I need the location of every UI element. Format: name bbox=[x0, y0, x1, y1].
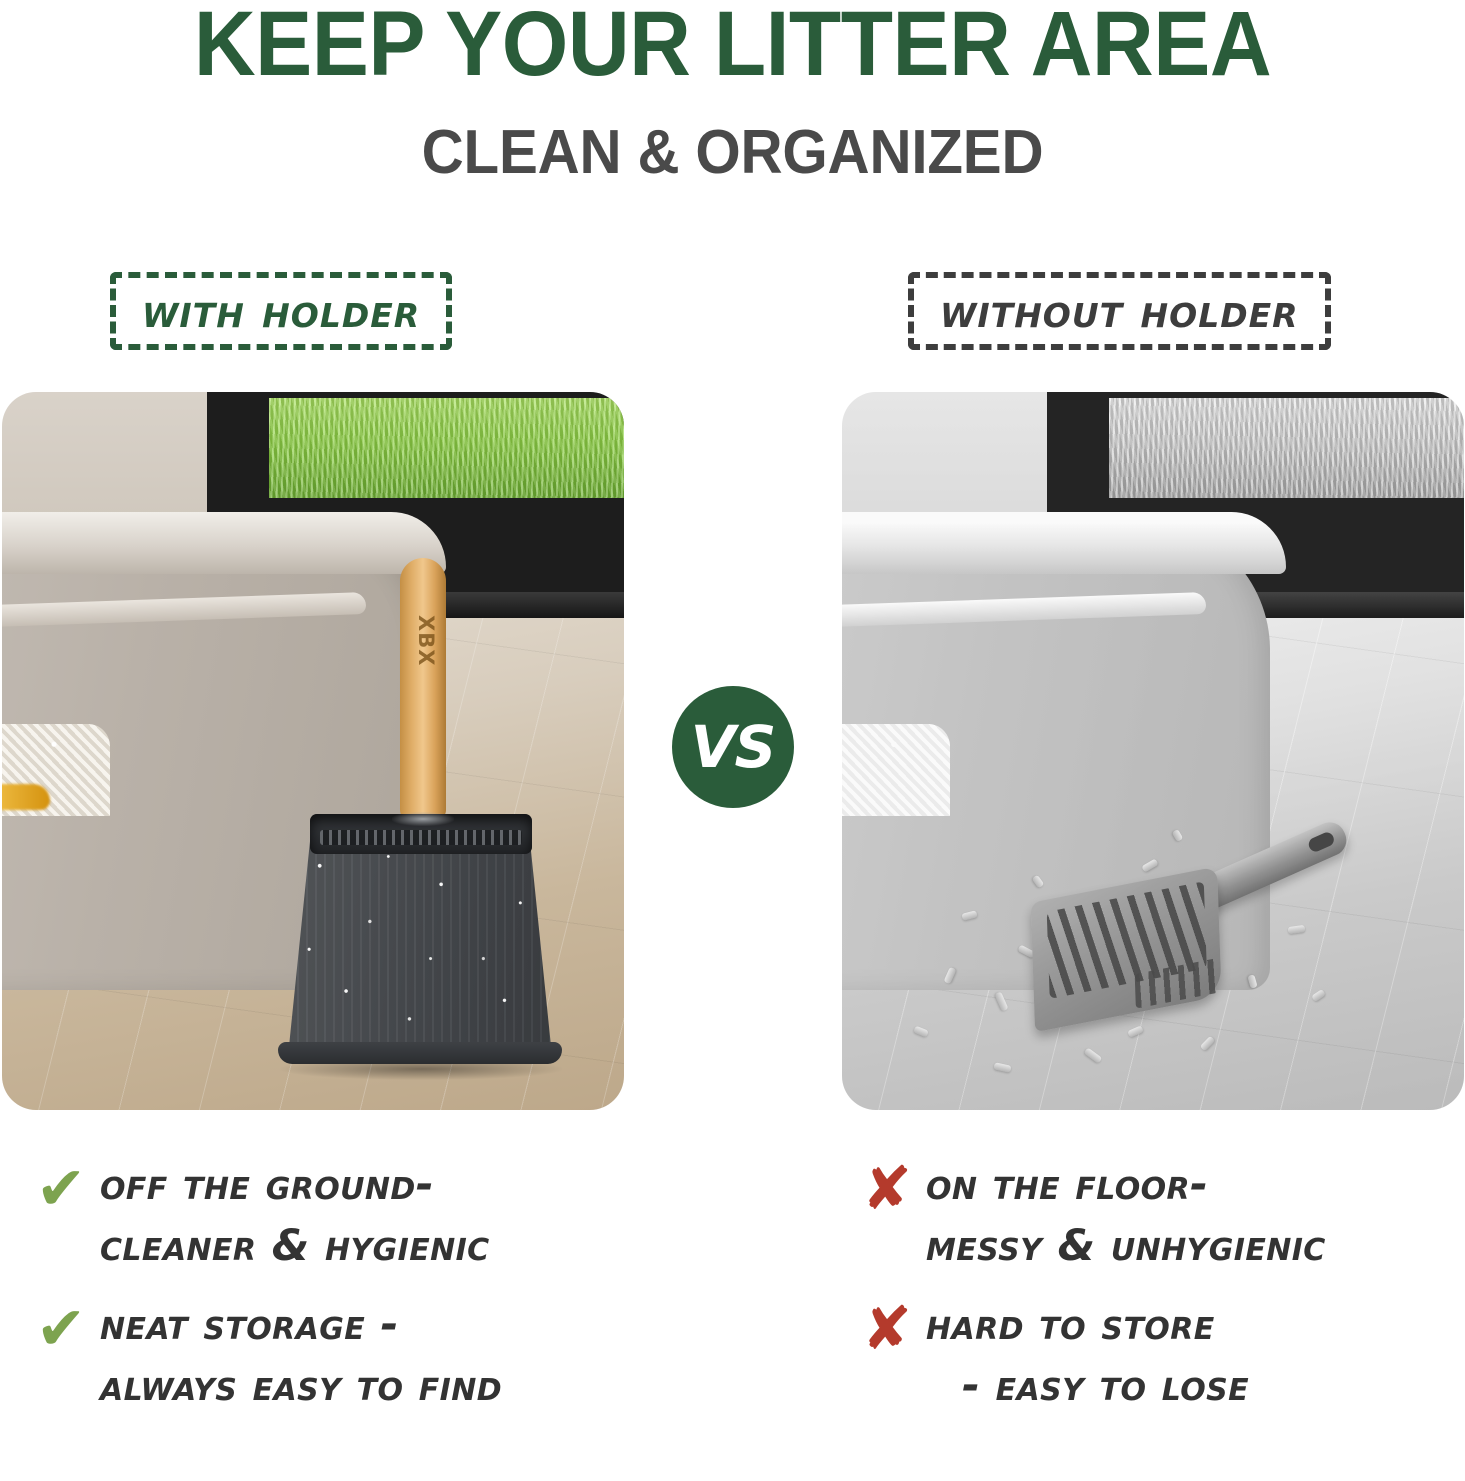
vs-label: VS bbox=[691, 718, 776, 776]
holder-speckle-texture bbox=[288, 824, 552, 1056]
benefit-line-2: cleaner & hygienic bbox=[100, 1216, 682, 1277]
badge-with-holder: With Holder bbox=[110, 272, 452, 350]
scoop-hang-hole bbox=[1307, 830, 1336, 853]
litter-accent bbox=[2, 784, 50, 810]
litter-box-rim bbox=[2, 512, 446, 574]
benefit-line-1: Off the ground- bbox=[100, 1160, 434, 1210]
window-pane-grass bbox=[1109, 398, 1464, 498]
list-item: ✔ Neat storage - always easy to find bbox=[22, 1295, 682, 1417]
benefit-line-1: Neat storage - bbox=[100, 1300, 399, 1350]
litter-granules bbox=[842, 724, 950, 816]
litter-box-rim bbox=[842, 512, 1286, 574]
check-icon: ✔ bbox=[22, 1155, 100, 1219]
handle-brand-mark: XBX bbox=[408, 602, 438, 680]
list-item: ✘ On the floor- messy & unhygienic bbox=[848, 1155, 1465, 1277]
cross-icon: ✘ bbox=[848, 1295, 926, 1359]
grass-texture bbox=[1109, 398, 1464, 498]
drawback-line-2: - easy to lose bbox=[926, 1356, 1465, 1417]
drawback-line-1: Hard to store bbox=[926, 1300, 1215, 1350]
benefit-text: Off the ground- cleaner & hygienic bbox=[100, 1155, 682, 1277]
drawback-line-1: On the floor- bbox=[926, 1160, 1208, 1210]
photo-without-holder bbox=[842, 392, 1464, 1110]
infographic-root: KEEP YOUR LITTER AREA CLEAN & ORGANIZED … bbox=[0, 0, 1465, 1481]
cross-icon: ✘ bbox=[848, 1155, 926, 1219]
badge-with-holder-label: With Holder bbox=[142, 288, 420, 335]
window-pane-grass bbox=[269, 398, 624, 498]
holder-body bbox=[288, 824, 552, 1056]
photo-with-holder: XBX bbox=[2, 392, 624, 1110]
drawback-line-2: messy & unhygienic bbox=[926, 1216, 1465, 1277]
badge-without-holder-label: Without Holder bbox=[940, 288, 1299, 335]
list-item: ✔ Off the ground- cleaner & hygienic bbox=[22, 1155, 682, 1277]
scoop-head-in-holder bbox=[392, 812, 454, 826]
benefits-with-holder: ✔ Off the ground- cleaner & hygienic ✔ N… bbox=[22, 1155, 682, 1435]
holder-grate bbox=[320, 830, 522, 845]
benefit-line-2: always easy to find bbox=[100, 1356, 682, 1417]
page-title: KEEP YOUR LITTER AREA bbox=[51, 0, 1413, 93]
drawback-text: Hard to store - easy to lose bbox=[926, 1295, 1465, 1417]
benefit-text: Neat storage - always easy to find bbox=[100, 1295, 682, 1417]
drawbacks-without-holder: ✘ On the floor- messy & unhygienic ✘ Har… bbox=[848, 1155, 1465, 1435]
list-item: ✘ Hard to store - easy to lose bbox=[848, 1295, 1465, 1417]
scoop-wooden-handle: XBX bbox=[400, 558, 446, 820]
page-subtitle: CLEAN & ORGANIZED bbox=[44, 120, 1421, 185]
vs-badge: VS bbox=[672, 686, 794, 808]
drawback-text: On the floor- messy & unhygienic bbox=[926, 1155, 1465, 1277]
grass-texture bbox=[269, 398, 624, 498]
holder-foot bbox=[278, 1042, 562, 1064]
scoop-holder bbox=[270, 806, 570, 1074]
badge-without-holder: Without Holder bbox=[908, 272, 1331, 350]
scoop-head bbox=[1031, 866, 1222, 1032]
check-icon: ✔ bbox=[22, 1295, 100, 1359]
